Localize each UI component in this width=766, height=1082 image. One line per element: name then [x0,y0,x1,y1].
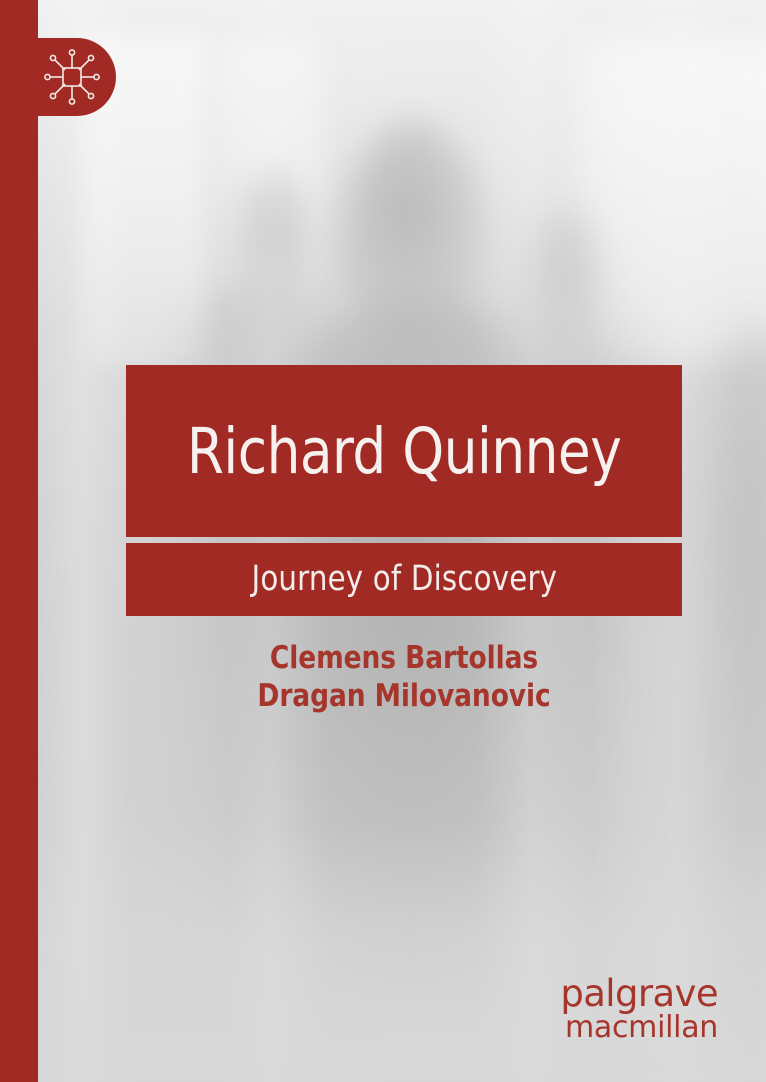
author-name: Clemens Bartollas [140,639,668,677]
palgrave-macmillan-logo-icon [38,43,106,111]
spine-band [0,0,38,1082]
publisher-wordmark: palgrave macmillan [560,976,718,1044]
cover-background-photo [38,0,766,1082]
background-grain [38,0,766,1082]
publisher-name-primary: palgrave [560,976,718,1012]
publisher-name-secondary: macmillan [560,1012,718,1044]
book-subtitle: Journey of Discovery [251,562,557,597]
subtitle-block: Journey of Discovery [126,543,682,616]
author-name: Dragan Milovanovic [140,677,668,715]
publisher-logo-tab [0,38,116,116]
book-title: Richard Quinney [187,420,621,483]
author-list: Clemens Bartollas Dragan Milovanovic [126,639,682,716]
title-block: Richard Quinney [126,365,682,537]
book-cover: Richard Quinney Journey of Discovery Cle… [0,0,766,1082]
